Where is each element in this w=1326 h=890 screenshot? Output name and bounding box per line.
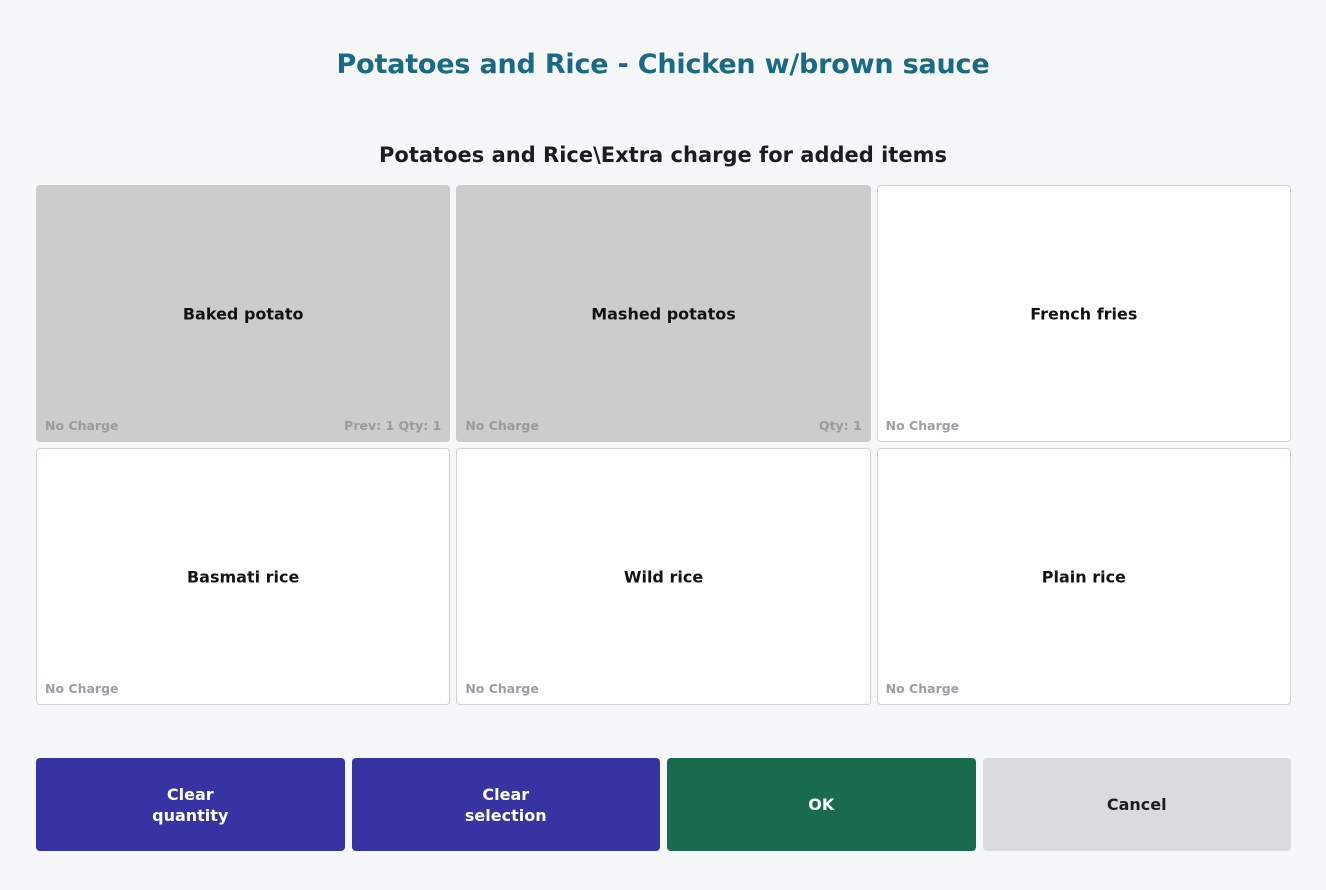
tile-label: Baked potato [37, 304, 449, 323]
cancel-button[interactable]: Cancel [983, 758, 1292, 851]
tile-label: French fries [878, 304, 1290, 323]
tile-footer: No Charge [878, 418, 1290, 433]
tile-charge-label: No Charge [45, 418, 119, 433]
modifier-tile-basmati-rice[interactable]: Basmati rice No Charge [36, 448, 450, 705]
tile-quantity-label: Prev: 1 Qty: 1 [344, 418, 441, 433]
tile-charge-label: No Charge [886, 418, 960, 433]
tile-footer: No Charge [878, 681, 1290, 696]
action-button-bar: Clear quantity Clear selection OK Cancel [36, 758, 1291, 851]
modifier-group-subtitle: Potatoes and Rice\Extra charge for added… [0, 140, 1326, 170]
tile-label: Basmati rice [37, 567, 449, 586]
tile-charge-label: No Charge [45, 681, 119, 696]
tile-charge-label: No Charge [886, 681, 960, 696]
modifier-tile-plain-rice[interactable]: Plain rice No Charge [877, 448, 1291, 705]
tile-footer: No Charge Prev: 1 Qty: 1 [37, 418, 449, 433]
modifier-selection-screen: Potatoes and Rice - Chicken w/brown sauc… [0, 0, 1326, 890]
tile-footer: No Charge Qty: 1 [457, 418, 869, 433]
ok-button[interactable]: OK [667, 758, 976, 851]
tile-quantity-label: Qty: 1 [819, 418, 862, 433]
tile-charge-label: No Charge [465, 681, 539, 696]
clear-selection-button[interactable]: Clear selection [352, 758, 661, 851]
modifier-tile-french-fries[interactable]: French fries No Charge [877, 185, 1291, 442]
modifier-tile-baked-potato[interactable]: Baked potato No Charge Prev: 1 Qty: 1 [36, 185, 450, 442]
modifier-tile-mashed-potatos[interactable]: Mashed potatos No Charge Qty: 1 [456, 185, 870, 442]
clear-quantity-button[interactable]: Clear quantity [36, 758, 345, 851]
tile-label: Mashed potatos [457, 304, 869, 323]
tile-charge-label: No Charge [465, 418, 539, 433]
tile-label: Wild rice [457, 567, 869, 586]
tile-label: Plain rice [878, 567, 1290, 586]
modifier-tile-grid: Baked potato No Charge Prev: 1 Qty: 1 Ma… [36, 185, 1291, 705]
modifier-tile-wild-rice[interactable]: Wild rice No Charge [456, 448, 870, 705]
tile-footer: No Charge [37, 681, 449, 696]
tile-footer: No Charge [457, 681, 869, 696]
page-title: Potatoes and Rice - Chicken w/brown sauc… [0, 46, 1326, 84]
